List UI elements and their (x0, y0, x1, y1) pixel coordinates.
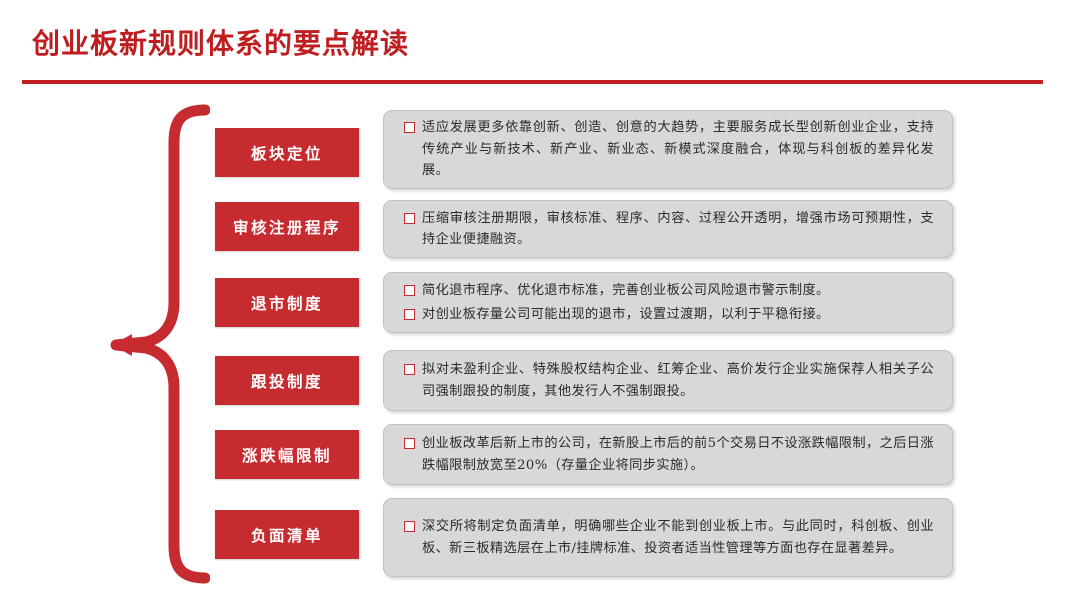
bullet-text: 适应发展更多依靠创新、创造、创意的大趋势，主要服务成长型创新创业企业，支持传统产… (422, 117, 934, 181)
category-label-3[interactable]: 跟投制度 (215, 356, 359, 405)
category-label-0[interactable]: 板块定位 (215, 128, 359, 177)
detail-panel-3: 拟对未盈利企业、特殊股权结构企业、红筹企业、高价发行企业实施保荐人相关子公司强制… (383, 350, 953, 411)
detail-panel-4: 创业板改革后新上市的公司，在新股上市后的前5个交易日不设涨跌幅限制，之后日涨跌幅… (383, 424, 953, 485)
category-label-4[interactable]: 涨跌幅限制 (215, 430, 359, 479)
bullet-text: 拟对未盈利企业、特殊股权结构企业、红筹企业、高价发行企业实施保荐人相关子公司强制… (422, 359, 934, 402)
bullet-item: 深交所将制定负面清单，明确哪些企业不能到创业板上市。与此同时，科创板、创业板、新… (404, 516, 934, 559)
bullet-text: 深交所将制定负面清单，明确哪些企业不能到创业板上市。与此同时，科创板、创业板、新… (422, 516, 934, 559)
category-label-2[interactable]: 退市制度 (215, 278, 359, 327)
detail-panel-2: 简化退市程序、优化退市标准，完善创业板公司风险退市警示制度。 对创业板存量公司可… (383, 272, 953, 333)
square-bullet-icon (404, 285, 415, 296)
category-label-5[interactable]: 负面清单 (215, 510, 359, 559)
square-bullet-icon (404, 364, 415, 375)
bullet-text: 创业板改革后新上市的公司，在新股上市后的前5个交易日不设涨跌幅限制，之后日涨跌幅… (422, 433, 934, 476)
bullet-item: 简化退市程序、优化退市标准，完善创业板公司风险退市警示制度。 (404, 280, 934, 301)
square-bullet-icon (404, 438, 415, 449)
title-underline-rule (22, 80, 1043, 84)
bullet-text: 对创业板存量公司可能出现的退市，设置过渡期，以利于平稳衔接。 (422, 304, 934, 325)
bullet-item: 适应发展更多依靠创新、创造、创意的大趋势，主要服务成长型创新创业企业，支持传统产… (404, 117, 934, 181)
detail-panel-0: 适应发展更多依靠创新、创造、创意的大趋势，主要服务成长型创新创业企业，支持传统产… (383, 110, 953, 189)
bullet-item: 对创业板存量公司可能出现的退市，设置过渡期，以利于平稳衔接。 (404, 304, 934, 325)
detail-panel-1: 压缩审核注册期限，审核标准、程序、内容、过程公开透明，增强市场可预期性，支持企业… (383, 200, 953, 258)
category-label-1[interactable]: 审核注册程序 (215, 202, 359, 251)
square-bullet-icon (404, 213, 415, 224)
left-curly-brace-icon (110, 104, 210, 584)
bullet-text: 压缩审核注册期限，审核标准、程序、内容、过程公开透明，增强市场可预期性，支持企业… (422, 208, 934, 251)
bullet-item: 压缩审核注册期限，审核标准、程序、内容、过程公开透明，增强市场可预期性，支持企业… (404, 208, 934, 251)
detail-panel-5: 深交所将制定负面清单，明确哪些企业不能到创业板上市。与此同时，科创板、创业板、新… (383, 498, 953, 577)
bullet-item: 拟对未盈利企业、特殊股权结构企业、红筹企业、高价发行企业实施保荐人相关子公司强制… (404, 359, 934, 402)
page-title: 创业板新规则体系的要点解读 (32, 22, 409, 62)
square-bullet-icon (404, 521, 415, 532)
bullet-text: 简化退市程序、优化退市标准，完善创业板公司风险退市警示制度。 (422, 280, 934, 301)
square-bullet-icon (404, 122, 415, 133)
square-bullet-icon (404, 309, 415, 320)
bullet-item: 创业板改革后新上市的公司，在新股上市后的前5个交易日不设涨跌幅限制，之后日涨跌幅… (404, 433, 934, 476)
